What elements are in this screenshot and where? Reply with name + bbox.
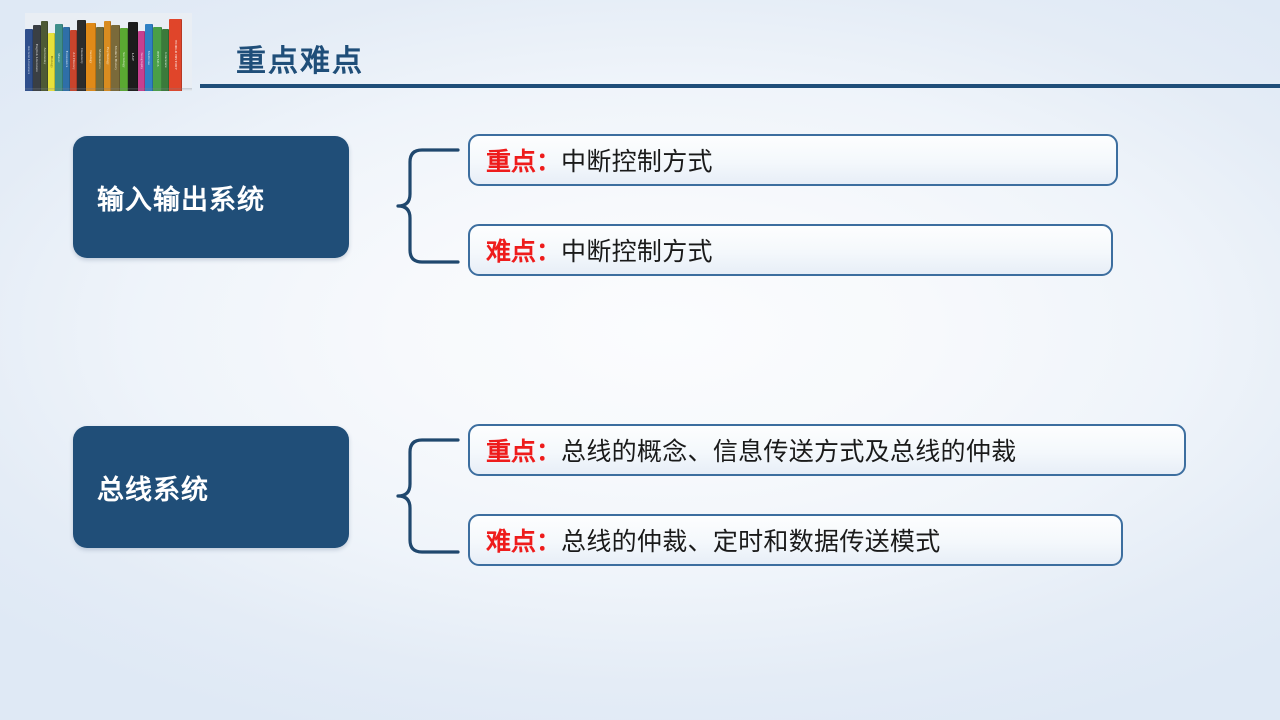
stack-of-books-image: Ancient LiteratureEnglish LiteratureAstr… [25, 13, 192, 91]
book-spine-title: English Literature [35, 44, 39, 72]
category-box-1[interactable]: 总线系统 [73, 426, 349, 548]
item-colon-1-0: ： [536, 432, 561, 468]
item-key-1-1: 难点 [486, 522, 536, 558]
item-key-0-0: 重点 [486, 142, 536, 178]
book-spine: LAW [128, 22, 138, 91]
item-key-1-0: 重点 [486, 432, 536, 468]
curly-brace-connector-0 [384, 128, 464, 284]
book-spine-title: Medicine [147, 50, 151, 64]
book-spine: Geography [138, 31, 145, 91]
book-spine: Modern History [111, 25, 120, 91]
book-spine-title: Sociology [122, 52, 126, 68]
page-title: 重点难点 [236, 36, 364, 80]
book-spine: Astronomy [41, 21, 48, 91]
item-box-0-1[interactable]: 难点：中断控制方式 [468, 224, 1113, 276]
book-spine-title: LAW [131, 52, 135, 60]
slide-header: Ancient LiteratureEnglish LiteratureAstr… [0, 0, 1280, 100]
book-spine: Music [55, 24, 63, 91]
item-colon-0-0: ： [536, 142, 561, 178]
book-spine-title: Art History [72, 52, 76, 70]
book-spine: Economics [63, 27, 70, 91]
item-key-0-1: 难点 [486, 232, 536, 268]
book-spine: Sociology [120, 28, 128, 91]
book-spine-title: PHYSICS [156, 51, 160, 66]
book-spine-title: Economics [65, 51, 69, 68]
item-box-1-0[interactable]: 重点：总线的概念、信息传送方式及总线的仲裁 [468, 424, 1186, 476]
book-spine-title: Biology [50, 56, 54, 68]
item-text-1-0: 总线的概念、信息传送方式及总线的仲裁 [561, 432, 1016, 468]
header-divider-rule [200, 84, 1280, 88]
book-spine-title: Geology [89, 50, 93, 63]
book-spine-title: Literature [164, 52, 168, 67]
item-box-1-1[interactable]: 难点：总线的仲裁、定时和数据传送模式 [468, 514, 1123, 566]
book-spine: Psychology [104, 21, 111, 91]
item-text-0-1: 中断控制方式 [561, 232, 713, 268]
book-spine: Mathematics [96, 27, 104, 91]
book-spine: Geology [86, 23, 96, 91]
item-box-0-0[interactable]: 重点：中断控制方式 [468, 134, 1118, 186]
category-box-0[interactable]: 输入输出系统 [73, 136, 349, 258]
slide-canvas: Ancient LiteratureEnglish LiteratureAstr… [0, 0, 1280, 720]
content-group-1: 总线系统 重点：总线的概念、信息传送方式及总线的仲裁 难点：总线的仲裁、定时和数… [0, 418, 1280, 574]
item-text-1-1: 总线的仲裁、定时和数据传送模式 [561, 522, 941, 558]
book-spine: Medicine [145, 24, 153, 91]
category-label-1: 总线系统 [97, 468, 209, 507]
book-spine: English Literature [33, 25, 41, 91]
book-spine: Literature [162, 29, 169, 91]
item-colon-0-1: ： [536, 232, 561, 268]
book-spine-title: Geography [140, 53, 144, 70]
book-spine: Ancient Literature [25, 29, 33, 91]
book-spine-title: Music [57, 53, 61, 62]
book-spine-title: WORLD HISTORY [174, 40, 178, 70]
book-spine: PHYSICS [153, 27, 162, 91]
book-spine-title: Psychology [106, 47, 110, 65]
item-colon-1-1: ： [536, 522, 561, 558]
books-shelf-shadow [25, 88, 192, 91]
category-label-0: 输入输出系统 [97, 178, 265, 217]
book-spine-title: Modern History [114, 46, 118, 71]
book-spine: Biology [48, 33, 55, 91]
item-text-0-0: 中断控制方式 [561, 142, 713, 178]
book-spine-title: Astronomy [43, 47, 47, 64]
book-spine-title: Chemistry [80, 48, 84, 64]
book-spine-title: Mathematics [98, 49, 102, 69]
book-spine: Art History [70, 30, 77, 91]
curly-brace-connector-1 [384, 418, 464, 574]
book-spine: WORLD HISTORY [169, 19, 182, 91]
content-group-0: 输入输出系统 重点：中断控制方式 难点：中断控制方式 [0, 128, 1280, 284]
book-spine: Chemistry [77, 20, 86, 91]
book-spine-title: Ancient Literature [27, 46, 31, 75]
